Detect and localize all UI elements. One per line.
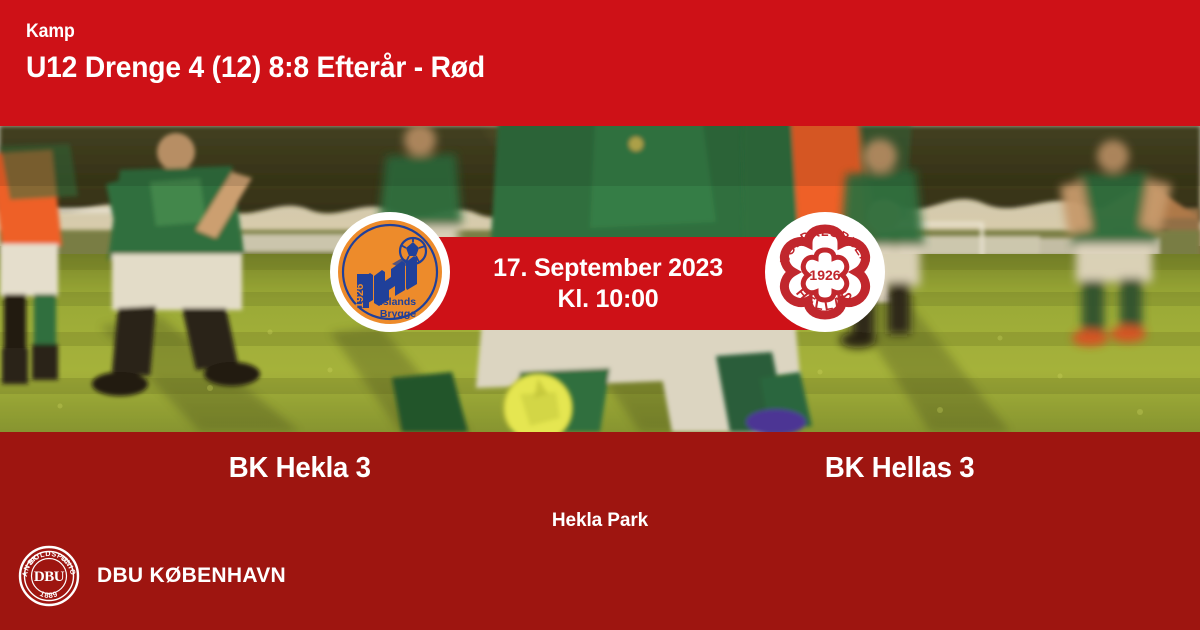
match-poster: Kamp U12 Drenge 4 (12) 8:8 Efterår - Rød [0,0,1200,630]
footer-brand-text: DBU KØBENHAVN [97,564,286,588]
away-team-name: BK Hellas 3 [825,449,975,487]
match-date: 17. September 2023 [493,253,723,284]
poster-header: Kamp U12 Drenge 4 (12) 8:8 Efterår - Rød [0,0,1200,126]
match-date-banner: 17. September 2023 Kl. 10:00 [390,237,826,330]
away-crest-founded: 1926 [809,267,840,283]
match-time: Kl. 10:00 [557,284,658,315]
away-crest-bottom-text: HELLAS [793,285,857,314]
header-kicker: Kamp [26,22,1094,42]
match-venue: Hekla Park [0,509,1200,533]
away-team-cell: BK Hellas 3 [600,449,1200,487]
footer-brand: DANSK BOLDSPIL UNION 1889 DBU DBU KØBENH… [18,545,286,607]
page-title: U12 Drenge 4 (12) 8:8 Efterår - Rød [26,50,1105,86]
home-crest-founded: 1926 [354,284,366,308]
home-crest-location-2: Brygge [380,308,416,320]
team-row: BK Hekla 3 BK Hellas 3 [0,449,1200,487]
dbu-rim-year: 1889 [39,589,60,600]
home-club-crest: 1926 Islands Brygge [330,212,450,332]
home-crest-location-1: Islands [380,296,416,308]
dbu-monogram: DBU [34,569,65,585]
dbu-logo-icon: DANSK BOLDSPIL UNION 1889 DBU [18,545,80,607]
home-team-cell: BK Hekla 3 [0,449,600,487]
away-club-crest: 1926 BOLDKLUBBEN HELLAS [765,212,885,332]
home-team-name: BK Hekla 3 [229,449,371,487]
